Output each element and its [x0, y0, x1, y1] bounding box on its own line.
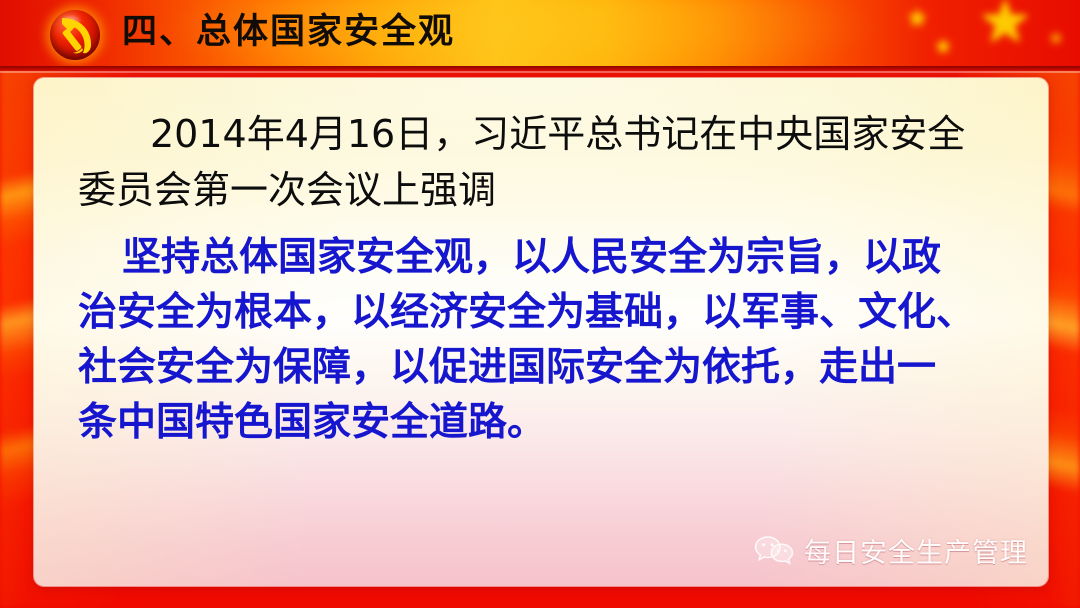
- hammer-sickle-icon: [50, 10, 100, 60]
- star-icon: ★: [906, 6, 928, 30]
- star-icon: ★: [934, 36, 952, 56]
- wechat-icon: [753, 534, 795, 568]
- slide-root: ★ ★ ★ ★ 四、总体国家安全观 2014年4月16日，习近平总书记在中央国家…: [0, 0, 1080, 608]
- header-divider-highlight: [0, 71, 1080, 73]
- watermark-label: 每日安全生产管理: [804, 531, 1028, 570]
- quote-paragraph: 坚持总体国家安全观，以人民安全为宗旨，以政 治安全为根本，以经济安全为基础，以军…: [78, 230, 1008, 450]
- page-title: 四、总体国家安全观: [122, 9, 455, 55]
- quote-line: 治安全为根本，以经济安全为基础，以军事、文化、: [78, 285, 1008, 340]
- header-band: ★ ★ ★ ★ 四、总体国家安全观: [0, 0, 1080, 68]
- flag-stars-group: ★ ★ ★ ★: [840, 0, 1080, 68]
- star-icon: ★: [1048, 30, 1064, 48]
- quote-line: 社会安全为保障，以促进国际安全为依托，走出一: [78, 340, 1008, 395]
- watermark: 每日安全生产管理: [753, 531, 1028, 570]
- intro-line: 2014年4月16日，习近平总书记在中央国家安全: [78, 106, 1008, 162]
- quote-line: 条中国特色国家安全道路。: [78, 395, 1008, 450]
- star-icon: ★: [978, 0, 1032, 52]
- intro-line: 委员会第一次会议上强调: [78, 162, 1008, 218]
- quote-line: 坚持总体国家安全观，以人民安全为宗旨，以政: [78, 230, 1008, 285]
- hammer-and-sickle-emblem: [44, 9, 102, 61]
- content-panel: 2014年4月16日，习近平总书记在中央国家安全 委员会第一次会议上强调 坚持总…: [34, 78, 1048, 586]
- intro-paragraph: 2014年4月16日，习近平总书记在中央国家安全 委员会第一次会议上强调: [78, 106, 1008, 218]
